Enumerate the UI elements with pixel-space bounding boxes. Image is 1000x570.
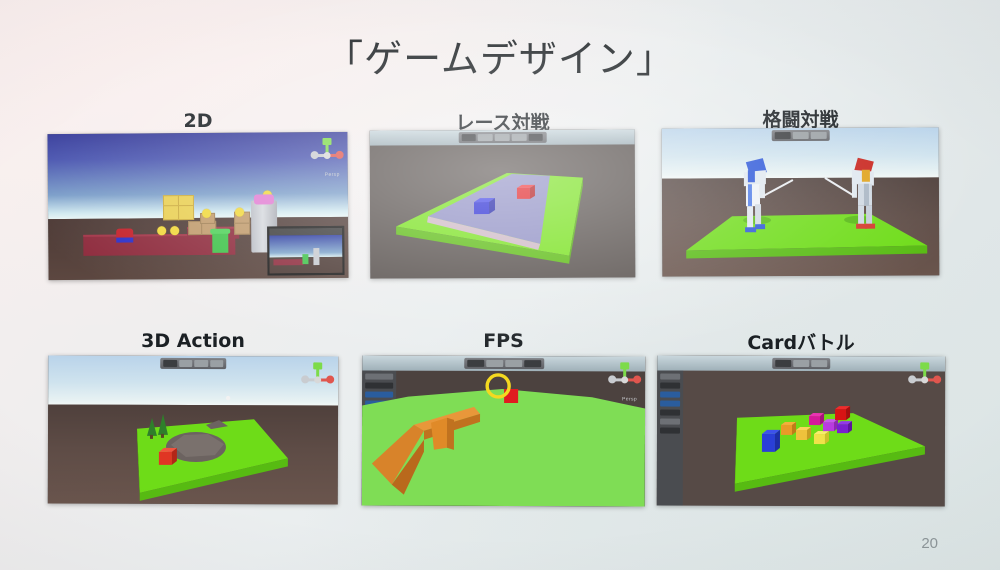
sword [763,180,793,196]
red-car-cube [517,188,530,199]
question-block [178,205,194,220]
coin [202,209,211,218]
blue-car-cube [474,202,489,214]
caption-2d: 2D [48,110,348,132]
fight-scene [662,127,940,276]
player [116,229,133,243]
coin [235,208,244,217]
sky [47,132,348,219]
camera-preview-objects [302,254,308,264]
card-cube-magenta [809,413,824,425]
card-cube-red [835,406,850,420]
slide-canvas: 「ゲームデザイン」 2D レース対戦 格闘対戦 3D Action FPS Ca… [0,0,1000,570]
screenshot-card[interactable] [657,355,946,506]
screenshot-3daction[interactable] [48,355,339,504]
page-title: 「ゲームデザイン」 [0,28,1000,83]
green-pipe [212,229,228,253]
camera-preview-tower [313,248,319,265]
card-cube-yellow [796,427,811,440]
red-cube-player [159,448,177,465]
question-block [163,205,179,220]
camera-preview-platform [273,259,303,265]
gizmo-center [324,152,331,159]
caption-3daction: 3D Action [48,330,338,352]
screenshot-fps[interactable]: Persp [362,356,646,507]
screenshot-race[interactable] [370,129,636,278]
coin [170,226,179,235]
ground-plane [686,213,927,250]
gizmo-x-handle [336,151,344,159]
fps-scene [362,356,646,507]
caption-card: Cardバトル [657,328,945,355]
caption-fps: FPS [362,330,645,352]
gizmo-y-handle [322,138,331,145]
card-cube-violet [823,419,838,431]
tower-cap [254,194,274,204]
camera-preview [267,226,344,276]
screenshot-fight[interactable] [662,127,940,276]
page-number: 20 [921,535,938,552]
gizmo-label: Persp [325,172,340,178]
card-cube-blue [762,430,780,452]
sword [825,178,854,196]
tree [158,414,168,438]
card-scene [657,355,946,506]
scene-gizmo[interactable]: Persp [311,140,341,170]
sun-sphere [226,396,230,400]
card-cube-pale-yellow [814,431,829,444]
card-cube-purple [837,421,852,433]
card-cube-orange [781,422,796,435]
coin [157,226,166,235]
screenshot-2d[interactable]: Persp [47,132,348,280]
race-scene [370,129,636,278]
action-scene [48,355,339,504]
gizmo-z-handle [311,151,319,159]
